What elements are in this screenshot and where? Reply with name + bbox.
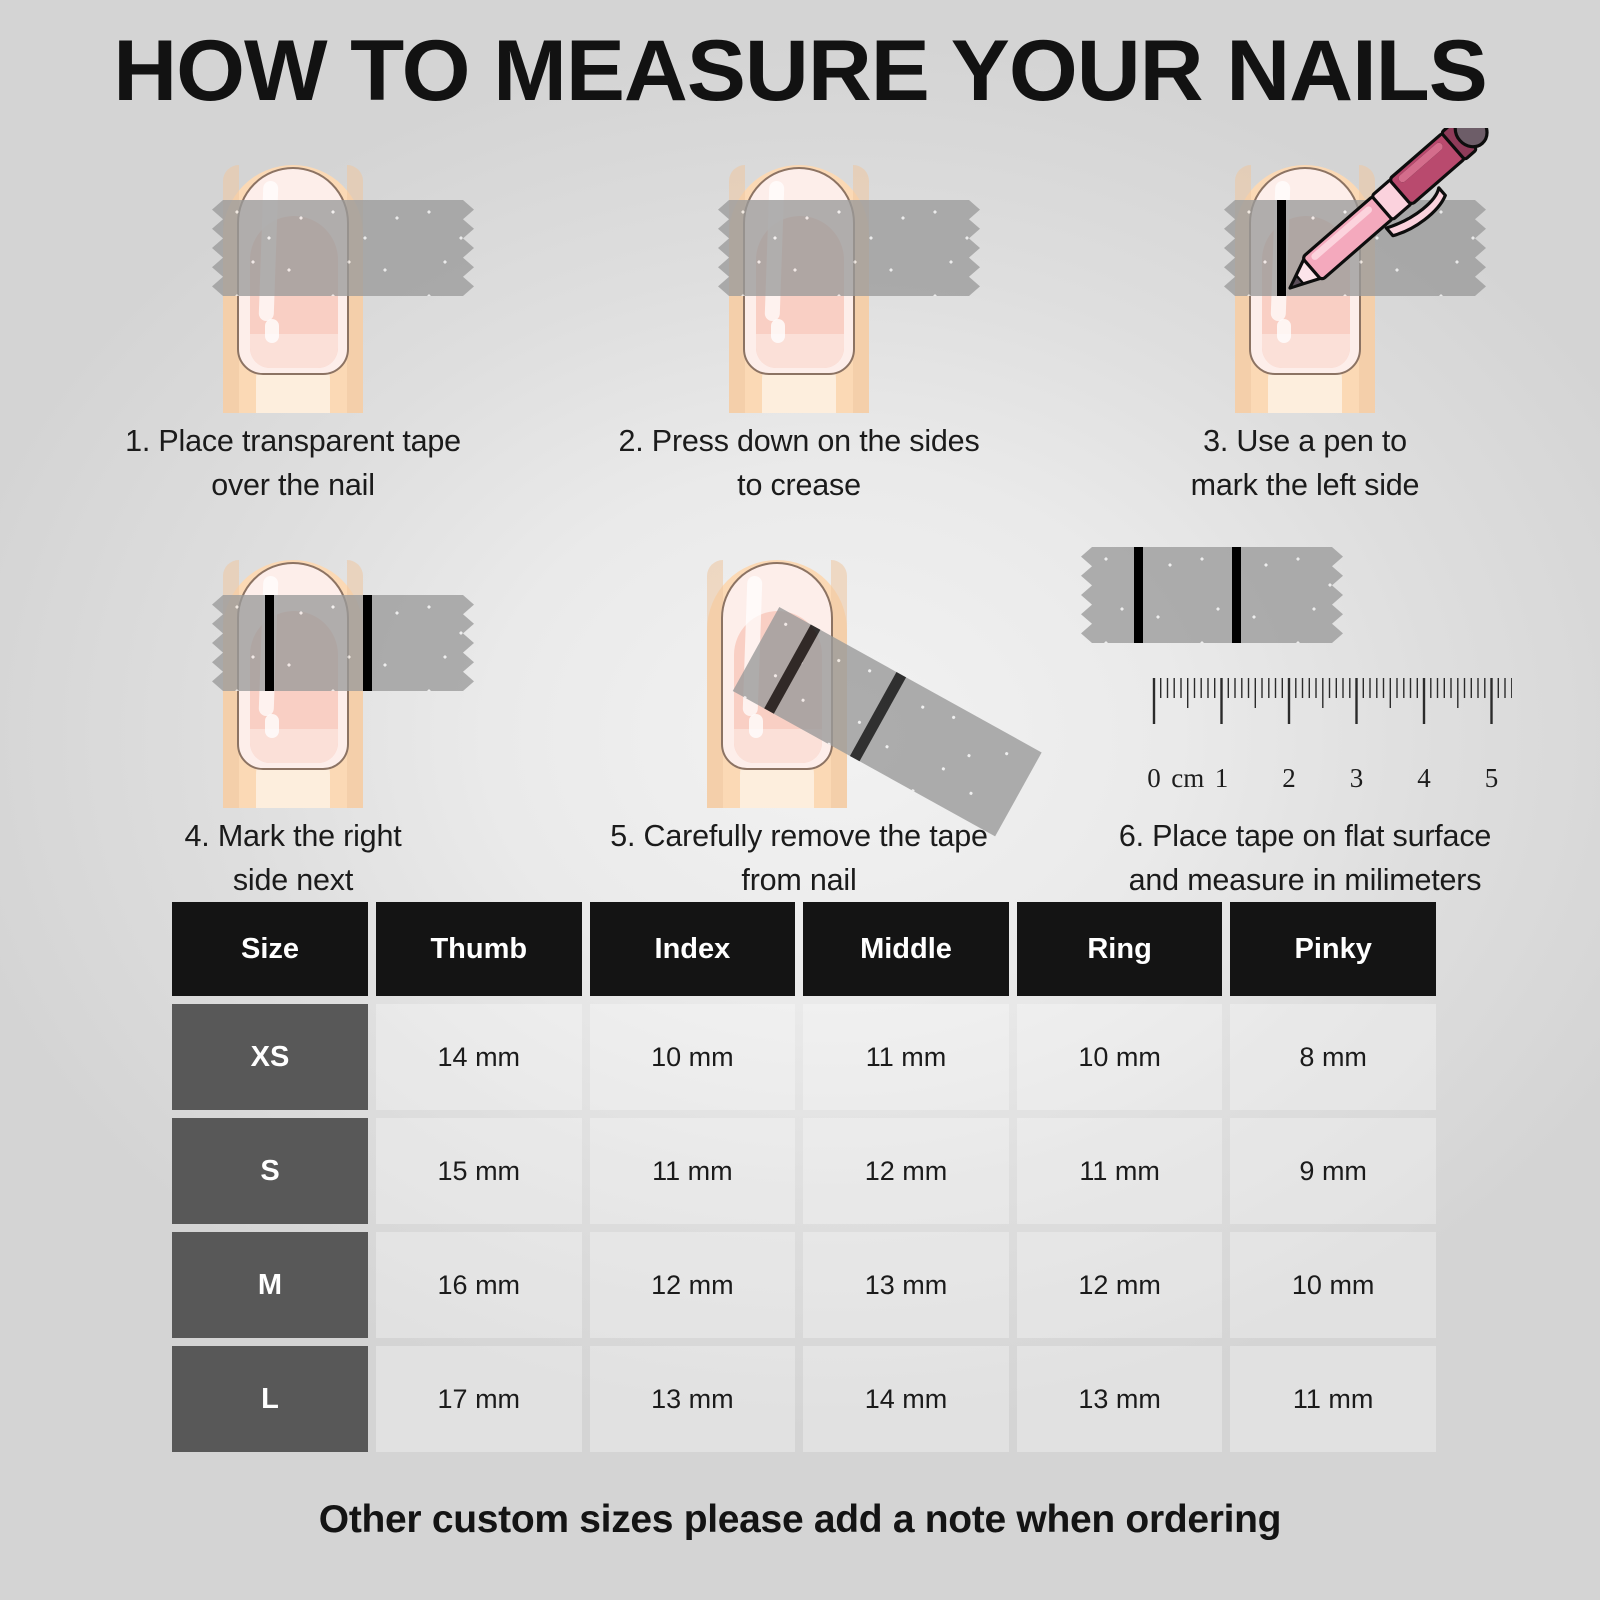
ruler-ticks (1092, 678, 1512, 758)
mark-left-on-tape (1134, 547, 1143, 643)
ruler-unit-label: cm (1168, 763, 1208, 794)
nail-smile-line (250, 729, 338, 763)
tape-zigzag-left (1081, 547, 1092, 643)
table-cell: 10 mm (590, 1004, 796, 1110)
nail-smile-line (734, 729, 822, 763)
size-label-m: M (172, 1232, 368, 1338)
step-5: 5. Carefully remove the tape from nail (546, 523, 1052, 902)
size-label-s: S (172, 1118, 368, 1224)
tape-zigzag-right (463, 200, 474, 296)
ruler-label-2: 2 (1269, 763, 1309, 794)
step-5-illustration (546, 523, 1052, 808)
table-header-row: SizeThumbIndexMiddleRingPinky (172, 902, 1436, 996)
table-cell: 16 mm (376, 1232, 582, 1338)
tape-texture (223, 595, 463, 691)
table-cell: 10 mm (1230, 1232, 1436, 1338)
table-cell: 12 mm (1017, 1232, 1223, 1338)
nail-gloss-dot (749, 714, 763, 738)
tape-strip-creased (729, 200, 969, 296)
left-mark (265, 595, 274, 691)
ruler: 012345cm (1092, 678, 1512, 798)
step-2-caption: 2. Press down on the sides to crease (546, 419, 1052, 507)
table-cell: 9 mm (1230, 1118, 1436, 1224)
tape-strip-flat (1092, 547, 1332, 643)
nail-smile-line (756, 334, 844, 368)
step-1-illustration (40, 128, 546, 413)
table-header-index: Index (590, 902, 796, 996)
step-2: 2. Press down on the sides to crease (546, 128, 1052, 507)
pen-icon (1052, 128, 1558, 413)
nail-gloss-dot (265, 319, 279, 343)
table-row: S15 mm11 mm12 mm11 mm9 mm (172, 1118, 1436, 1224)
table-cell: 8 mm (1230, 1004, 1436, 1110)
nail-smile-line (250, 334, 338, 368)
ruler-label-5: 5 (1472, 763, 1512, 794)
size-label-l: L (172, 1346, 368, 1452)
tape-texture (223, 200, 463, 296)
footer-note: Other custom sizes please add a note whe… (0, 1498, 1600, 1542)
step-1-caption: 1. Place transparent tape over the nail (40, 419, 546, 507)
table-cell: 12 mm (803, 1118, 1009, 1224)
step-3-illustration (1052, 128, 1558, 413)
tape-zigzag-right (969, 200, 980, 296)
left-mark (1277, 200, 1286, 296)
tape-zigzag-right (463, 595, 474, 691)
table-header-size: Size (172, 902, 368, 996)
table-cell: 14 mm (376, 1004, 582, 1110)
mark-right-on-tape (1232, 547, 1241, 643)
table-cell: 11 mm (1230, 1346, 1436, 1452)
table-header-thumb: Thumb (376, 902, 582, 996)
table-body: XS14 mm10 mm11 mm10 mm8 mmS15 mm11 mm12 … (172, 1004, 1436, 1452)
steps-row-2: 4. Mark the right side next (40, 523, 1560, 902)
table-cell: 17 mm (376, 1346, 582, 1452)
table-row: L17 mm13 mm14 mm13 mm11 mm (172, 1346, 1436, 1452)
table-cell: 11 mm (590, 1118, 796, 1224)
table-header-middle: Middle (803, 902, 1009, 996)
step-5-caption: 5. Carefully remove the tape from nail (546, 814, 1052, 902)
ruler-label-4: 4 (1404, 763, 1444, 794)
step-4-illustration (40, 523, 546, 808)
table-cell: 10 mm (1017, 1004, 1223, 1110)
table-header-pinky: Pinky (1230, 902, 1436, 996)
step-3-caption: 3. Use a pen to mark the left side (1052, 419, 1558, 507)
nail-gloss-dot (771, 319, 785, 343)
nail-gloss-dot (265, 714, 279, 738)
table-row: M16 mm12 mm13 mm12 mm10 mm (172, 1232, 1436, 1338)
tape-strip (223, 595, 463, 691)
table-cell: 11 mm (1017, 1118, 1223, 1224)
step-4-caption: 4. Mark the right side next (40, 814, 546, 902)
table-row: XS14 mm10 mm11 mm10 mm8 mm (172, 1004, 1436, 1110)
size-label-xs: XS (172, 1004, 368, 1110)
size-chart-table: SizeThumbIndexMiddleRingPinky XS14 mm10 … (172, 902, 1436, 1460)
right-mark (363, 595, 372, 691)
steps-grid: 1. Place transparent tape over the nail (40, 128, 1560, 902)
tape-texture (729, 200, 969, 296)
step-6-caption: 6. Place tape on flat surface and measur… (1052, 814, 1558, 902)
table-cell: 14 mm (803, 1346, 1009, 1452)
infographic-page: HOW TO MEASURE YOUR NAILS (0, 0, 1600, 1600)
page-title: HOW TO MEASURE YOUR NAILS (0, 28, 1600, 114)
step-2-illustration (546, 128, 1052, 413)
step-4: 4. Mark the right side next (40, 523, 546, 902)
table-cell: 15 mm (376, 1118, 582, 1224)
table-cell: 13 mm (1017, 1346, 1223, 1452)
step-6: 012345cm 6. Place tape on flat surface a… (1052, 523, 1558, 902)
table-cell: 13 mm (803, 1232, 1009, 1338)
ruler-label-3: 3 (1337, 763, 1377, 794)
step-6-illustration: 012345cm (1052, 523, 1558, 808)
table-cell: 12 mm (590, 1232, 796, 1338)
tape-zigzag-right (1332, 547, 1343, 643)
table-cell: 11 mm (803, 1004, 1009, 1110)
tape-strip (223, 200, 463, 296)
table-cell: 13 mm (590, 1346, 796, 1452)
step-1: 1. Place transparent tape over the nail (40, 128, 546, 507)
table-header-ring: Ring (1017, 902, 1223, 996)
steps-row-1: 1. Place transparent tape over the nail (40, 128, 1560, 507)
tape-texture (1092, 547, 1332, 643)
step-3: 3. Use a pen to mark the left side (1052, 128, 1558, 507)
